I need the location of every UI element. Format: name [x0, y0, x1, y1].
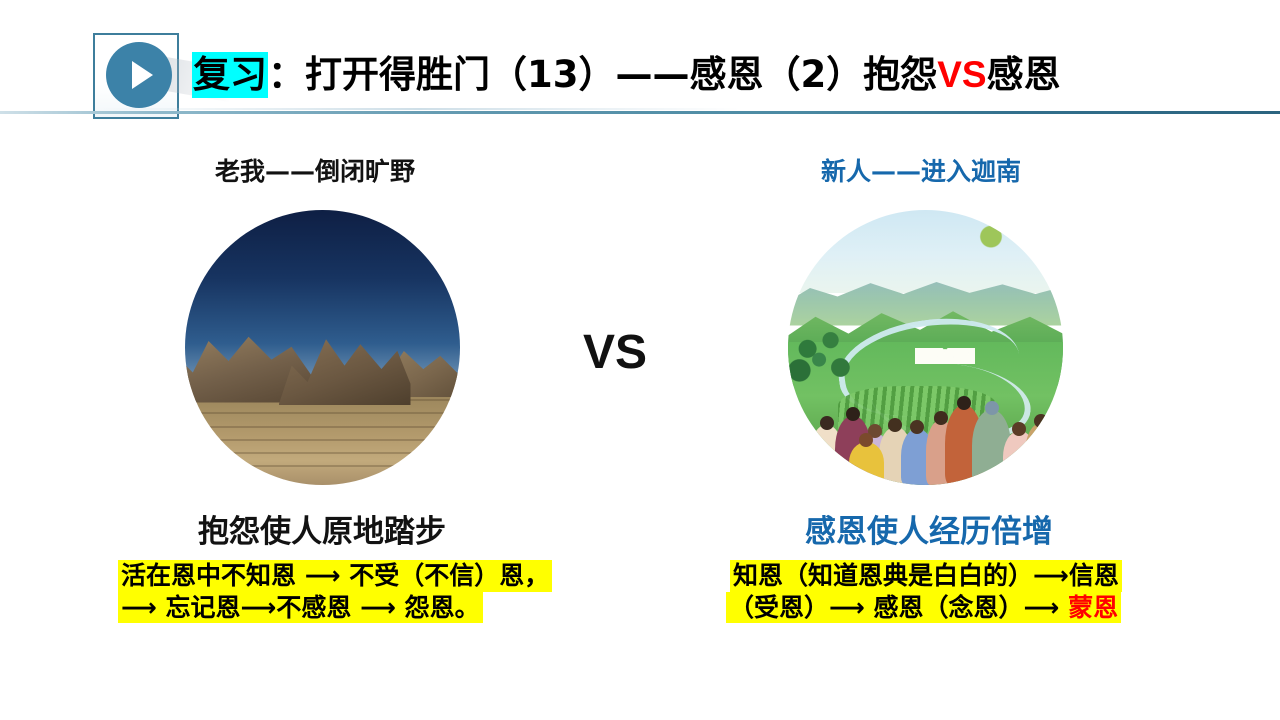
play-circle-icon[interactable]: [106, 42, 172, 108]
canaan-crowd: [788, 392, 1063, 486]
right-note-line-2: （受恩）⟶ 感恩（念恩）⟶ 蒙恩: [726, 592, 1121, 624]
left-note-block: 活在恩中不知恩 ⟶ 不受（不信）恩， ⟶ 忘记恩⟶不感恩 ⟶ 怨恩。: [118, 560, 552, 623]
right-top-caption: 新人——进入迦南: [821, 152, 1021, 188]
left-circle-image: [185, 210, 460, 485]
title-tail-label: 感恩: [987, 53, 1061, 96]
left-top-caption: 老我——倒闭旷野: [215, 152, 415, 188]
right-bottom-caption: 感恩使人经历倍增: [805, 506, 1053, 551]
play-triangle-icon: [132, 61, 153, 89]
right-circle-image: [788, 210, 1063, 485]
left-note-line-1: 活在恩中不知恩 ⟶ 不受（不信）恩，: [118, 560, 552, 592]
left-bottom-caption: 抱怨使人原地踏步: [198, 506, 446, 551]
vs-separator-label: VS: [583, 325, 647, 380]
title-main-label: ：打开得胜门（13）——感恩（2）抱怨: [268, 53, 937, 96]
header-divider: [0, 111, 1280, 114]
right-note-line-1: 知恩（知道恩典是白白的）⟶信恩: [730, 560, 1122, 592]
page-title: 复习：打开得胜门（13）——感恩（2）抱怨VS感恩: [192, 44, 1061, 98]
canaan-woods: [788, 320, 865, 392]
slide-canvas: 复习：打开得胜门（13）——感恩（2）抱怨VS感恩 老我——倒闭旷野 抱怨使人原…: [0, 0, 1280, 720]
right-note-line-2-plain: （受恩）⟶ 感恩（念恩）⟶: [729, 593, 1068, 622]
header-divider-glow: [100, 108, 740, 110]
desert-scene: [185, 210, 460, 485]
title-highlight-label: 复习: [192, 52, 268, 98]
title-vs-label: VS: [937, 54, 986, 95]
right-note-line-2-emphasis: 蒙恩: [1068, 593, 1118, 622]
canaan-sheep-flock: [915, 348, 976, 365]
left-note-line-2: ⟶ 忘记恩⟶不感恩 ⟶ 怨恩。: [118, 592, 483, 624]
right-note-block: 知恩（知道恩典是白白的）⟶信恩 （受恩）⟶ 感恩（念恩）⟶ 蒙恩: [730, 560, 1122, 623]
canaan-scene: [788, 210, 1063, 485]
